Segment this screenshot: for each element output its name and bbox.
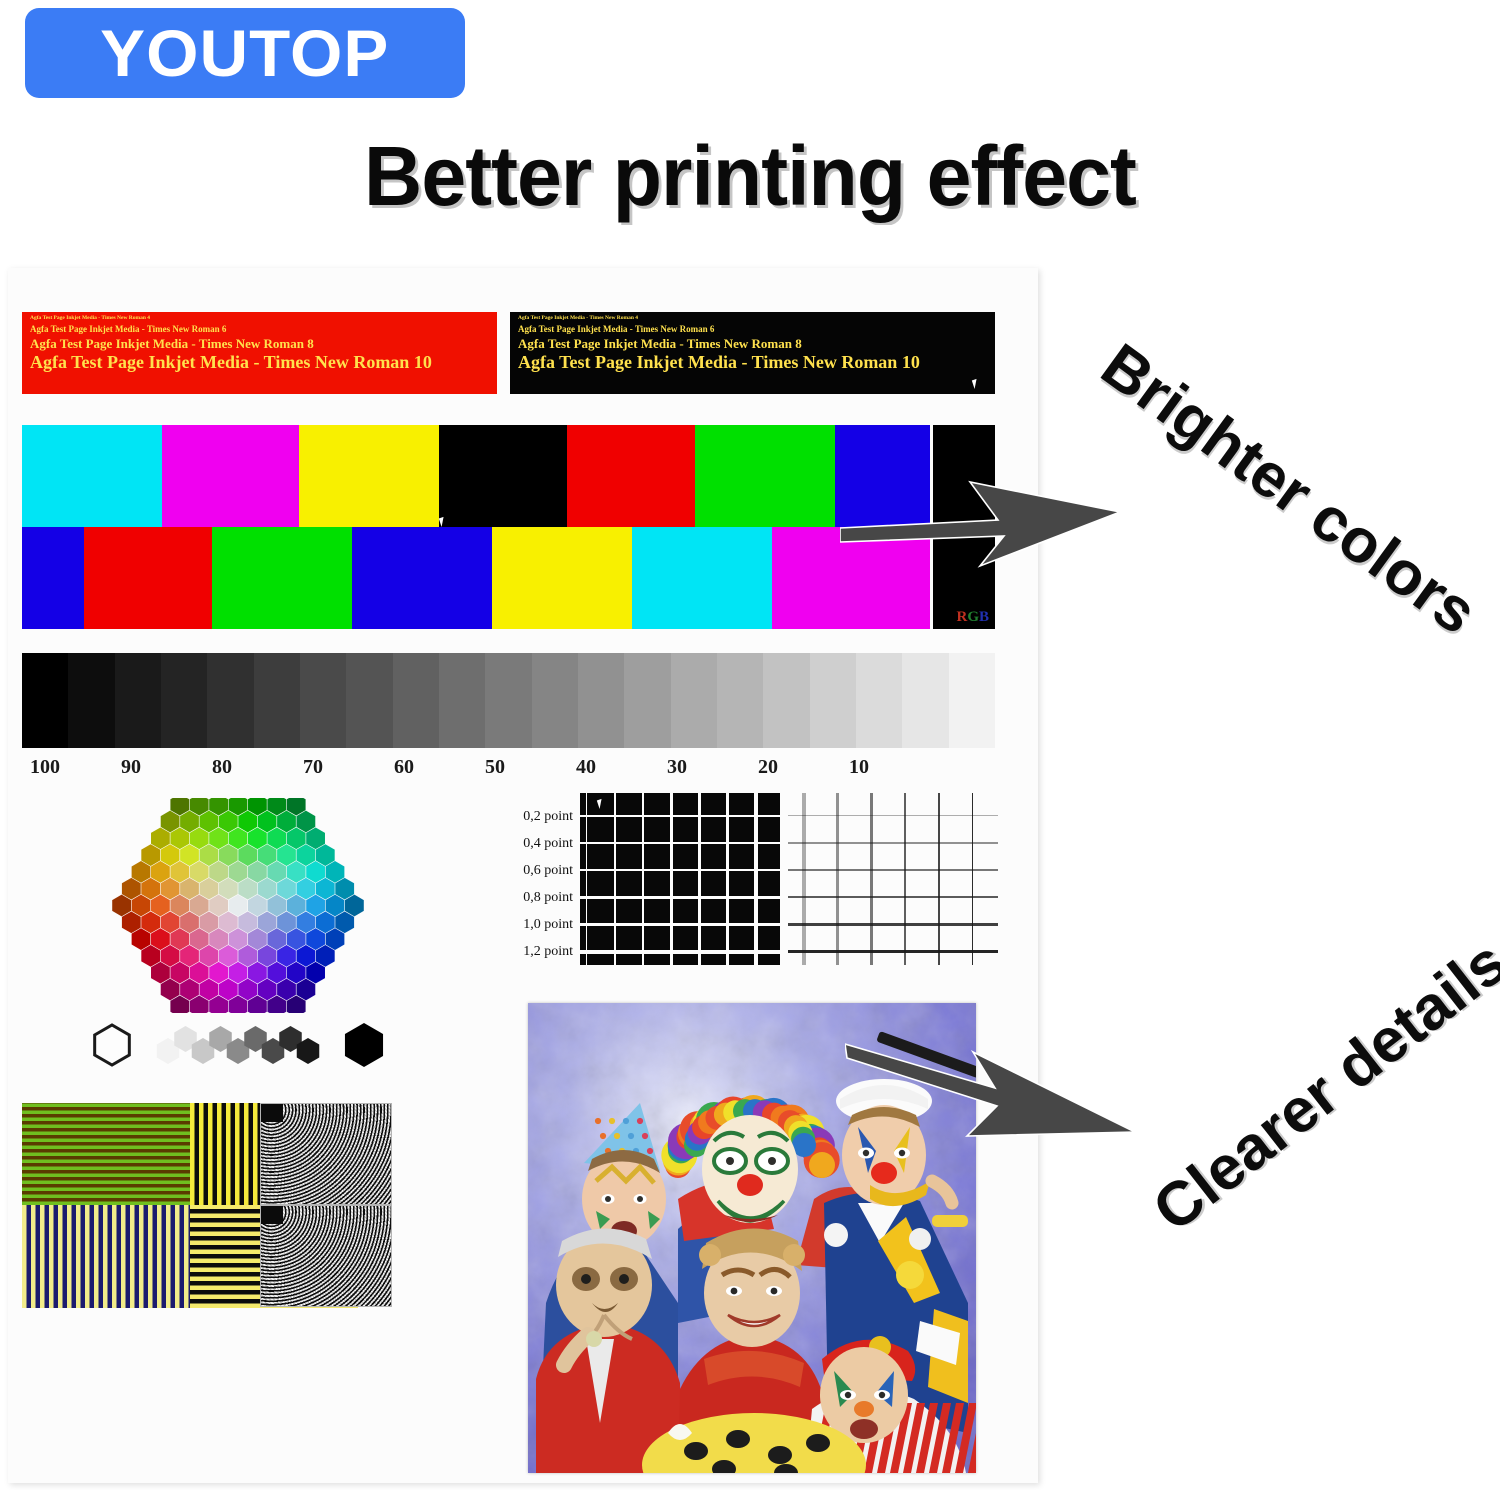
color-hexagon xyxy=(277,811,296,833)
color-hexagon xyxy=(112,895,131,917)
line-label-5: 1,0 point xyxy=(523,917,573,933)
moire-origin-block xyxy=(261,1206,283,1224)
color-hexagon xyxy=(306,962,325,984)
gray-step-19 xyxy=(810,653,856,748)
color-hexagon xyxy=(267,962,286,984)
photo-hat-dot xyxy=(642,1133,648,1139)
photo-pupil xyxy=(845,1392,851,1398)
photo-hat-dot xyxy=(614,1133,620,1139)
color-hexagon xyxy=(200,811,219,833)
photo-hat-dot xyxy=(637,1118,643,1124)
color-hexagon xyxy=(200,844,219,866)
grid-vline xyxy=(754,793,758,965)
color-hexagon xyxy=(287,928,306,950)
color-hexagon xyxy=(190,827,209,849)
color-hexagon xyxy=(200,979,219,1001)
moire-radial-panels xyxy=(260,1103,392,1308)
text-line-8pt: Agfa Test Page Inkjet Media - Times New … xyxy=(518,337,987,350)
photo-pupil xyxy=(731,1288,738,1295)
gray-step-5 xyxy=(949,653,995,748)
photo-party-whistle xyxy=(586,1331,602,1347)
gray-step-43 xyxy=(578,653,624,748)
color-hexagon xyxy=(180,844,199,866)
gray-label-90: 90 xyxy=(121,756,141,779)
color-hexagon xyxy=(229,895,248,917)
grid-hline xyxy=(788,869,998,871)
photo-pupil xyxy=(619,1274,629,1284)
color-swatch-cyan xyxy=(22,425,162,527)
stripe-pane-yellow-blue-vertical xyxy=(22,1205,190,1308)
hexagonal-color-wheel xyxy=(88,798,388,1013)
gray-step-95 xyxy=(68,653,114,748)
color-hexagon xyxy=(180,811,199,833)
color-hexagon xyxy=(180,878,199,900)
color-hexagon xyxy=(190,861,209,883)
color-hexagon xyxy=(238,945,257,967)
color-swatch-red xyxy=(84,527,212,629)
color-hexagon xyxy=(209,895,228,917)
photo-plush-spot xyxy=(684,1442,708,1460)
grid-hline xyxy=(788,842,998,844)
photo-hat-dot xyxy=(595,1118,601,1124)
color-hexagon xyxy=(248,827,267,849)
photo-badge xyxy=(909,1228,931,1250)
gray-step-38 xyxy=(624,653,670,748)
color-hexagon xyxy=(219,844,238,866)
arrow-to-color-bars-icon xyxy=(840,450,1120,580)
gray-label-40: 40 xyxy=(576,756,596,779)
photo-hat-dot xyxy=(647,1148,653,1154)
gray-step-48 xyxy=(532,653,578,748)
gray-step-10 xyxy=(902,653,948,748)
gray-step-33 xyxy=(671,653,717,748)
color-hexagon xyxy=(229,962,248,984)
gray-step-86 xyxy=(161,653,207,748)
photo-plush-spot xyxy=(768,1446,792,1464)
gray-step-14 xyxy=(856,653,902,748)
line-label-6: 1,2 point xyxy=(523,944,573,960)
photo-hat-dot xyxy=(609,1118,615,1124)
color-hexagon xyxy=(151,962,170,984)
black-text-test-block: Agfa Test Page Inkjet Media - Times New … xyxy=(510,312,995,394)
text-line-8pt: Agfa Test Page Inkjet Media - Times New … xyxy=(30,337,489,350)
grayscale-labels: 100908070605040302010 xyxy=(22,756,995,782)
color-hexagon xyxy=(248,962,267,984)
color-hexagon xyxy=(277,945,296,967)
arrow-to-photo-icon xyxy=(845,1040,1135,1180)
color-hexagon xyxy=(190,895,209,917)
color-hexagon xyxy=(258,844,277,866)
color-hexagon xyxy=(297,844,316,866)
color-hexagon xyxy=(297,878,316,900)
gray-label-100: 100 xyxy=(30,756,60,779)
color-hexagon xyxy=(267,861,286,883)
white-grid-panel xyxy=(788,793,998,965)
gray-step-29 xyxy=(717,653,763,748)
color-hexagon xyxy=(190,962,209,984)
color-hexagon xyxy=(180,911,199,933)
photo-pupil xyxy=(605,1196,611,1202)
grid-vline xyxy=(726,793,729,965)
color-hexagon xyxy=(229,928,248,950)
color-hexagon xyxy=(219,911,238,933)
color-hexagon xyxy=(248,928,267,950)
color-hexagon xyxy=(151,928,170,950)
color-hexagon xyxy=(170,928,189,950)
text-line-10pt: Agfa Test Page Inkjet Media - Times New … xyxy=(30,353,489,371)
color-hexagon xyxy=(229,827,248,849)
grid-vline xyxy=(698,793,701,965)
photo-clown-nose xyxy=(737,1174,763,1196)
color-swatch-yellow xyxy=(299,425,439,527)
color-hexagon xyxy=(209,827,228,849)
gray-label-70: 70 xyxy=(303,756,323,779)
color-hexagon xyxy=(238,878,257,900)
grid-hline xyxy=(580,815,780,817)
color-hexagon xyxy=(200,945,219,967)
color-hexagon xyxy=(170,861,189,883)
photo-hat-dot xyxy=(628,1133,634,1139)
color-hexagon xyxy=(248,895,267,917)
color-hexagon xyxy=(287,962,306,984)
photo-wig-curl xyxy=(809,1152,835,1178)
moire-radial-top xyxy=(260,1103,392,1205)
color-hexagon xyxy=(335,911,354,933)
rgb-registration-mark: RGB xyxy=(956,609,989,626)
color-hexagon xyxy=(335,878,354,900)
callout-clearer-details: Clearer details xyxy=(1140,927,1500,1246)
grid-vline xyxy=(670,793,673,965)
photo-pupil xyxy=(879,1392,885,1398)
color-hexagon xyxy=(151,861,170,883)
color-swatch-magenta xyxy=(162,425,299,527)
color-hexagon xyxy=(287,895,306,917)
color-hexagon xyxy=(345,895,364,917)
color-hexagon xyxy=(122,878,141,900)
page-title: Better printing effect xyxy=(30,128,1470,225)
color-hexagon xyxy=(326,861,345,883)
photo-pupil xyxy=(768,1157,776,1165)
color-hexagon xyxy=(151,827,170,849)
color-hexagon xyxy=(209,962,228,984)
grid-vline xyxy=(836,793,839,965)
line-label-2: 0,4 point xyxy=(523,836,573,852)
color-swatch-blue xyxy=(352,527,492,629)
grid-hline xyxy=(580,869,780,871)
gray-step-62 xyxy=(393,653,439,748)
color-bar-bottom-row xyxy=(22,527,930,629)
grid-hline xyxy=(788,815,998,816)
color-hexagon xyxy=(306,827,325,849)
black-hexagon xyxy=(345,1023,383,1067)
photo-plush-spot xyxy=(726,1430,750,1448)
text-line-10pt: Agfa Test Page Inkjet Media - Times New … xyxy=(518,353,987,371)
youtop-logo: YOUTOP xyxy=(25,8,465,98)
color-swatch-green xyxy=(695,425,835,527)
color-swatch-cyan xyxy=(632,527,772,629)
color-hexagon xyxy=(297,945,316,967)
color-hexagon xyxy=(267,827,286,849)
gray-label-30: 30 xyxy=(667,756,687,779)
color-hexagon xyxy=(267,895,286,917)
color-hexagon xyxy=(238,844,257,866)
color-hexagon xyxy=(122,911,141,933)
grid-hline xyxy=(788,950,998,953)
color-hexagon xyxy=(141,945,160,967)
color-swatch-black xyxy=(439,425,567,527)
color-hexagon xyxy=(132,895,151,917)
color-bar-top-row xyxy=(22,425,930,527)
photo-wristband xyxy=(932,1215,968,1227)
callout-brighter-colors: Brighter colors xyxy=(1088,330,1489,649)
grid-vline xyxy=(870,793,873,965)
line-label-4: 0,8 point xyxy=(523,890,573,906)
color-hexagon xyxy=(258,945,277,967)
grid-hline xyxy=(788,896,998,898)
gray-label-20: 20 xyxy=(758,756,778,779)
color-hexagon xyxy=(141,911,160,933)
outline-hexagon xyxy=(95,1025,130,1065)
gray-step-71 xyxy=(300,653,346,748)
line-label-3: 0,6 point xyxy=(523,863,573,879)
photo-open-mouth xyxy=(850,1419,878,1439)
color-hexagon xyxy=(297,911,316,933)
color-hexagon xyxy=(209,928,228,950)
gray-step-100 xyxy=(22,653,68,748)
color-hexagon xyxy=(316,878,335,900)
line-label-1: 0,2 point xyxy=(523,809,573,825)
gray-label-10: 10 xyxy=(849,756,869,779)
color-swatch-blue xyxy=(22,527,84,629)
photo-plush-spot xyxy=(806,1434,830,1452)
color-hexagon xyxy=(258,979,277,1001)
grid-vline xyxy=(802,793,806,965)
grid-vline xyxy=(614,793,616,965)
color-hexagon xyxy=(238,911,257,933)
color-hexagon xyxy=(161,844,180,866)
mouse-pointer-icon xyxy=(597,798,607,809)
gray-step-76 xyxy=(254,653,300,748)
gray-step-67 xyxy=(346,653,392,748)
grid-hline xyxy=(788,923,998,926)
photo-pompom xyxy=(896,1261,924,1289)
color-hexagon xyxy=(287,861,306,883)
color-hexagon xyxy=(170,827,189,849)
color-hexagon xyxy=(277,844,296,866)
color-hexagon xyxy=(132,928,151,950)
photo-pigtail xyxy=(783,1244,805,1266)
color-hexagon xyxy=(238,811,257,833)
color-hexagon xyxy=(258,911,277,933)
text-line-6pt: Agfa Test Page Inkjet Media - Times New … xyxy=(518,325,987,334)
grid-hline xyxy=(580,842,780,844)
color-hexagon xyxy=(316,844,335,866)
color-hexagon xyxy=(161,811,180,833)
gray-step-24 xyxy=(763,653,809,748)
color-hexagon xyxy=(287,827,306,849)
grayscale-wedge xyxy=(22,653,995,748)
color-hexagon xyxy=(277,878,296,900)
color-hexagon xyxy=(161,878,180,900)
color-hexagon xyxy=(267,928,286,950)
stripe-pane-green-brown xyxy=(22,1103,190,1205)
color-hexagon xyxy=(151,895,170,917)
color-hexagon xyxy=(306,861,325,883)
color-hexagon xyxy=(219,945,238,967)
grid-hline xyxy=(580,896,780,899)
color-hexagon xyxy=(132,861,151,883)
black-grid-panel xyxy=(580,793,780,965)
color-hexagon xyxy=(238,979,257,1001)
line-thickness-test: 0,2 point0,4 point0,6 point0,8 point1,0 … xyxy=(488,793,1008,965)
color-hexagon xyxy=(170,962,189,984)
color-hexagon xyxy=(180,945,199,967)
color-hexagon xyxy=(200,878,219,900)
color-hexagon xyxy=(297,811,316,833)
moire-origin-block xyxy=(261,1104,283,1122)
text-line-4pt: Agfa Test Page Inkjet Media - Times New … xyxy=(518,316,987,322)
color-hexagon xyxy=(219,878,238,900)
color-hexagon xyxy=(277,979,296,1001)
text-line-6pt: Agfa Test Page Inkjet Media - Times New … xyxy=(30,325,489,334)
grid-hline xyxy=(580,923,780,926)
photo-pigtail xyxy=(699,1244,721,1266)
logo-text: YOUTOP xyxy=(100,20,389,86)
grid-vline xyxy=(972,793,973,965)
grid-vline xyxy=(586,793,587,965)
color-swatch-green xyxy=(212,527,352,629)
photo-badge xyxy=(824,1223,848,1247)
color-hexagon xyxy=(258,811,277,833)
color-hexagon xyxy=(161,945,180,967)
line-thickness-labels: 0,2 point0,4 point0,6 point0,8 point1,0 … xyxy=(488,793,573,965)
gray-label-60: 60 xyxy=(394,756,414,779)
grid-vline xyxy=(904,793,906,965)
color-hexagon xyxy=(248,861,267,883)
gray-label-80: 80 xyxy=(212,756,232,779)
grid-vline xyxy=(642,793,644,965)
photo-pupil xyxy=(771,1288,778,1295)
color-hexagon xyxy=(306,895,325,917)
color-hexagon xyxy=(326,928,345,950)
color-hexagon xyxy=(180,979,199,1001)
gray-step-52 xyxy=(485,653,531,748)
moire-radial-bottom xyxy=(260,1205,392,1307)
color-hexagon xyxy=(209,861,228,883)
mouse-pointer-icon xyxy=(972,378,982,389)
color-hexagon xyxy=(326,895,345,917)
photo-clown-nose xyxy=(854,1401,874,1417)
color-swatch-yellow xyxy=(492,527,632,629)
hexagon-gray-ramp-row xyxy=(88,1013,408,1073)
color-hexagon xyxy=(297,979,316,1001)
color-hexagon xyxy=(141,878,160,900)
color-hexagon xyxy=(161,979,180,1001)
color-hexagon xyxy=(200,911,219,933)
color-swatch-red xyxy=(567,425,695,527)
photo-pupil xyxy=(637,1196,643,1202)
color-hexagon xyxy=(229,861,248,883)
color-hexagon xyxy=(277,911,296,933)
color-hexagon xyxy=(170,895,189,917)
color-hexagon xyxy=(316,945,335,967)
photo-hat-dot xyxy=(600,1133,606,1139)
red-text-test-block: Agfa Test Page Inkjet Media - Times New … xyxy=(22,312,497,394)
photo-hat-dot xyxy=(623,1118,629,1124)
grid-vline xyxy=(938,793,940,965)
color-hexagon xyxy=(219,811,238,833)
gray-label-50: 50 xyxy=(485,756,505,779)
color-hexagon xyxy=(306,928,325,950)
grid-hline xyxy=(580,950,780,954)
color-hexagon xyxy=(141,844,160,866)
color-hexagon xyxy=(219,979,238,1001)
color-hexagon xyxy=(161,911,180,933)
text-line-4pt: Agfa Test Page Inkjet Media - Times New … xyxy=(30,316,489,322)
color-hexagon xyxy=(316,911,335,933)
gray-step-57 xyxy=(439,653,485,748)
gray-step-90 xyxy=(115,653,161,748)
photo-pupil xyxy=(726,1157,734,1165)
color-hexagon xyxy=(190,928,209,950)
color-hexagon xyxy=(258,878,277,900)
photo-pupil xyxy=(581,1274,591,1284)
gray-step-81 xyxy=(207,653,253,748)
